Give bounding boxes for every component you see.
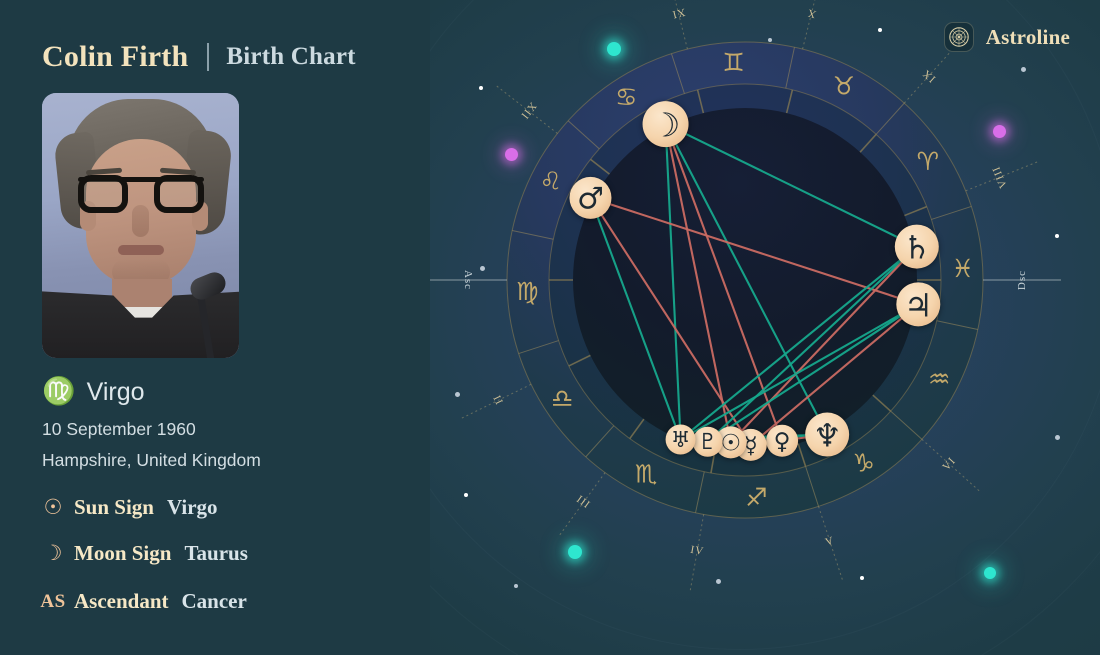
planet-marker-neptune[interactable]: ♆ bbox=[805, 413, 849, 457]
planet-glyph-uranus: ♅ bbox=[671, 428, 691, 453]
person-name: Colin Firth bbox=[42, 40, 188, 74]
planet-marker-pluto[interactable]: ♇ bbox=[693, 427, 723, 457]
zodiac-sign-pisces: ♓ bbox=[951, 254, 973, 283]
house-number-viii: VIII bbox=[990, 164, 1010, 190]
star bbox=[1055, 435, 1060, 440]
planet-glyph-neptune: ♆ bbox=[813, 417, 842, 455]
sun-sign-value: Virgo bbox=[167, 495, 218, 520]
moon-sign-value: Taurus bbox=[184, 541, 247, 566]
planet-marker-venus[interactable]: ♀ bbox=[766, 425, 798, 457]
star bbox=[1055, 234, 1059, 238]
star bbox=[514, 584, 518, 588]
zodiac-sign-aries: ♈ bbox=[917, 147, 939, 176]
planet-marker-moon[interactable]: ☽ bbox=[643, 101, 689, 147]
house-number-iv: IV bbox=[690, 544, 705, 558]
ascendant-label: Ascendant bbox=[74, 589, 169, 614]
zodiac-sign-gemini: ♊ bbox=[722, 48, 744, 77]
planet-glyph-venus: ♀ bbox=[774, 429, 791, 455]
star bbox=[464, 493, 468, 497]
zodiac-sign-sagittarius: ♐ bbox=[745, 483, 767, 512]
star bbox=[455, 392, 460, 397]
natal-wheel-svg: ♈♉♊♋♌♍♎♏♐♑♒♓ IIIIIIVVVIVIIIIXXXIXII AscD… bbox=[495, 30, 995, 530]
fact-row-sun-sign: ☉ Sun Sign Virgo bbox=[42, 495, 218, 520]
star bbox=[568, 545, 582, 559]
ascendant-value: Cancer bbox=[182, 589, 247, 614]
star bbox=[860, 576, 864, 580]
fact-row-moon-sign: ☽ Moon Sign Taurus bbox=[42, 541, 248, 566]
birth-date: 10 September 1960 bbox=[42, 419, 196, 440]
planet-glyph-moon: ☽ bbox=[651, 106, 681, 145]
planet-glyph-jupiter: ♃ bbox=[904, 286, 933, 324]
planet-glyph-saturn: ♄ bbox=[902, 229, 931, 267]
natal-wheel[interactable]: ♈♉♊♋♌♍♎♏♐♑♒♓ IIIIIIVVVIVIIIIXXXIXII AscD… bbox=[495, 30, 995, 530]
planet-glyph-mars: ♂ bbox=[577, 181, 604, 216]
house-number-xii: XII bbox=[518, 100, 539, 122]
zodiac-sign-cancer: ♋ bbox=[615, 83, 637, 112]
house-number-ii: II bbox=[490, 394, 505, 408]
axis-label-asc: Asc bbox=[462, 270, 474, 290]
star bbox=[716, 579, 721, 584]
portrait-photo bbox=[42, 93, 239, 358]
brand-name: Astroline bbox=[986, 25, 1070, 50]
star bbox=[1021, 67, 1026, 72]
sign-name: Virgo bbox=[87, 378, 145, 407]
fact-row-ascendant: AS Ascendant Cancer bbox=[42, 589, 247, 614]
astrolabe-wheel-icon bbox=[944, 22, 974, 52]
planet-marker-saturn[interactable]: ♄ bbox=[895, 225, 939, 269]
house-number-xi: XI bbox=[670, 6, 686, 21]
house-number-x: X bbox=[806, 6, 818, 20]
zodiac-sign-taurus: ♉ bbox=[833, 71, 855, 100]
star bbox=[984, 567, 996, 579]
moon-icon: ☽ bbox=[42, 543, 64, 564]
page-subtitle: Birth Chart bbox=[226, 43, 355, 71]
planet-marker-uranus[interactable]: ♅ bbox=[666, 424, 696, 454]
planet-glyph-sun: ☉ bbox=[720, 430, 741, 456]
zodiac-sign-capricorn: ♑ bbox=[853, 448, 875, 477]
ascendant-icon: AS bbox=[42, 592, 64, 611]
birth-place: Hampshire, United Kingdom bbox=[42, 450, 261, 471]
planet-marker-jupiter[interactable]: ♃ bbox=[896, 282, 940, 326]
sun-sign-label: Sun Sign bbox=[74, 495, 154, 520]
star bbox=[479, 86, 483, 90]
planet-glyph-pluto: ♇ bbox=[698, 430, 718, 455]
zodiac-sign-scorpio: ♏ bbox=[635, 460, 657, 489]
zodiac-sign-virgo: ♍ bbox=[516, 277, 538, 306]
sun-icon: ☉ bbox=[42, 497, 64, 518]
zodiac-sign-libra: ♎ bbox=[551, 384, 573, 413]
brand[interactable]: Astroline bbox=[944, 22, 1070, 52]
house-number-v: V bbox=[824, 534, 836, 548]
planet-marker-mars[interactable]: ♂ bbox=[569, 177, 611, 219]
axis-label-dsc: Dsc bbox=[1016, 270, 1028, 290]
zodiac-sign-leo: ♌ bbox=[540, 167, 562, 196]
sun-sign-heading: ♍ Virgo bbox=[42, 378, 145, 407]
title-separator bbox=[207, 43, 209, 71]
virgo-icon: ♍ bbox=[42, 378, 76, 405]
zodiac-sign-aquarius: ♒ bbox=[928, 364, 950, 393]
page-title: Colin Firth Birth Chart bbox=[42, 40, 356, 74]
profile-panel: Colin Firth Birth Chart ♍ Virgo 10 Septe… bbox=[0, 0, 430, 655]
house-number-iii: III bbox=[574, 494, 592, 512]
star bbox=[480, 266, 485, 271]
birth-chart-page: ♈♉♊♋♌♍♎♏♐♑♒♓ IIIIIIVVVIVIIIIXXXIXII AscD… bbox=[0, 0, 1100, 655]
moon-sign-label: Moon Sign bbox=[74, 541, 171, 566]
